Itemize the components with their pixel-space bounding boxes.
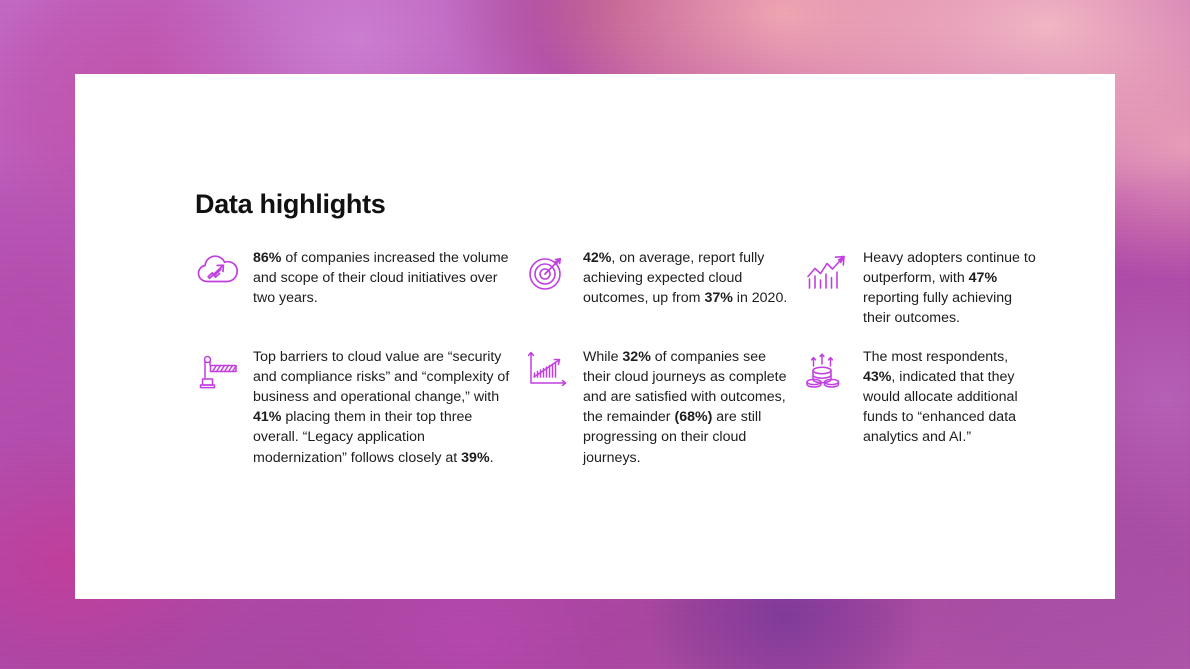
highlight-text-2: 42%, on average, report fully achieving …: [583, 248, 789, 309]
highlight-item-2: 42%, on average, report fully achieving …: [525, 248, 805, 329]
highlight-item-4: Top barriers to cloud value are “securit…: [195, 347, 525, 468]
highlight-text-6: The most respondents, 43%, indicated tha…: [863, 347, 1043, 448]
page-title: Data highlights: [195, 190, 1085, 220]
highlight-text-5: While 32% of companies see their cloud j…: [583, 347, 789, 468]
growth-chart-arrow-icon: [805, 250, 851, 294]
highlight-item-3: Heavy adopters continue to outperform, w…: [805, 248, 1045, 329]
highlight-item-6: The most respondents, 43%, indicated tha…: [805, 347, 1045, 468]
content-card: Data highlights 86% of companies increas…: [75, 74, 1115, 599]
highlight-text-4: Top barriers to cloud value are “securit…: [253, 347, 515, 468]
highlight-text-3: Heavy adopters continue to outperform, w…: [863, 248, 1043, 329]
barrier-gate-icon: [195, 349, 241, 393]
highlight-item-5: While 32% of companies see their cloud j…: [525, 347, 805, 468]
coins-stack-arrows-icon: [805, 349, 851, 393]
card-content: Data highlights 86% of companies increas…: [195, 190, 1085, 468]
highlight-text-1: 86% of companies increased the volume an…: [253, 248, 515, 309]
highlight-item-1: 86% of companies increased the volume an…: [195, 248, 525, 329]
cloud-arrow-up-icon: [195, 250, 241, 294]
highlights-grid: 86% of companies increased the volume an…: [195, 248, 1085, 468]
target-arrow-icon: [525, 250, 571, 294]
bar-chart-axes-icon: [525, 349, 571, 393]
